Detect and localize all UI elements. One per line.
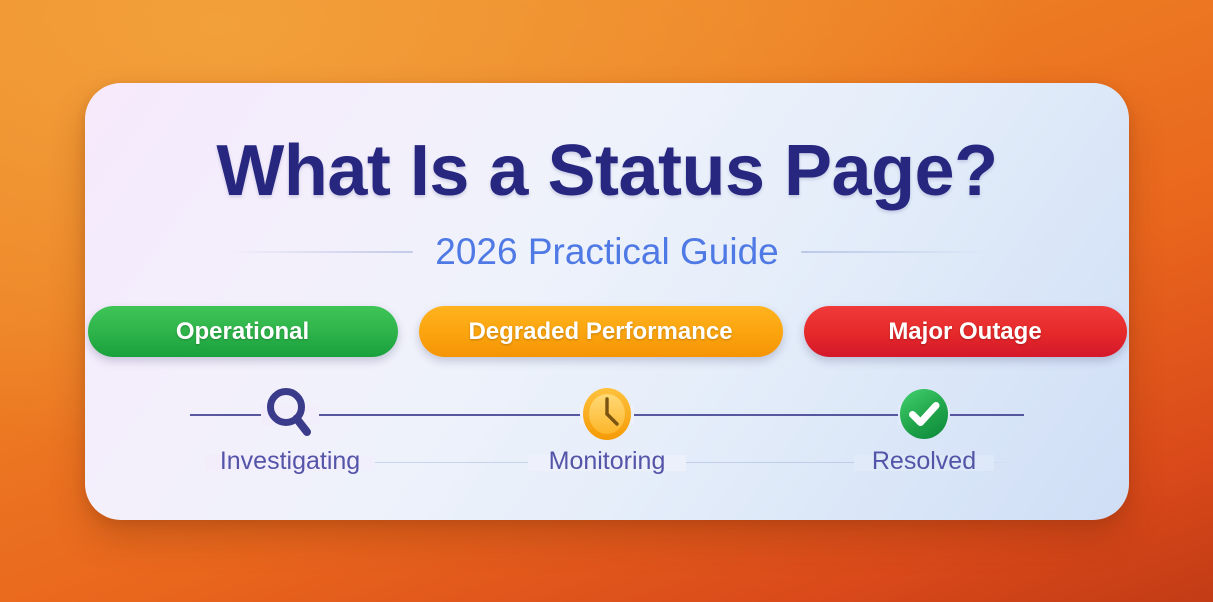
timeline-step-investigating[interactable]: Investigating	[190, 383, 390, 476]
timeline-step-monitoring[interactable]: Monitoring	[507, 383, 707, 476]
clock-icon	[580, 383, 634, 445]
status-badge-group: Operational Degraded Performance Major O…	[85, 306, 1129, 357]
timeline-step-monitoring-label: Monitoring	[539, 447, 676, 476]
status-badge-operational-label: Operational	[176, 318, 309, 346]
poster-canvas: What Is a Status Page? 2026 Practical Gu…	[0, 0, 1213, 602]
subtitle-rule-left	[227, 251, 413, 253]
check-circle-icon	[897, 383, 951, 445]
page-subtitle: 2026 Practical Guide	[435, 231, 778, 273]
subtitle-rule-right	[801, 251, 987, 253]
status-badge-degraded-performance[interactable]: Degraded Performance	[419, 306, 783, 357]
status-badge-major-outage[interactable]: Major Outage	[804, 306, 1127, 357]
subtitle-row: 2026 Practical Guide	[85, 231, 1129, 273]
timeline-step-resolved[interactable]: Resolved	[824, 383, 1024, 476]
status-badge-operational[interactable]: Operational	[88, 306, 398, 357]
status-badge-degraded-performance-label: Degraded Performance	[468, 318, 732, 346]
status-badge-major-outage-label: Major Outage	[888, 318, 1041, 346]
timeline-step-investigating-label: Investigating	[210, 447, 370, 476]
page-title: What Is a Status Page?	[85, 135, 1129, 207]
incident-timeline: Investigating	[190, 383, 1024, 483]
status-page-card: What Is a Status Page? 2026 Practical Gu…	[85, 83, 1129, 520]
timeline-steps: Investigating	[190, 383, 1024, 483]
magnifying-glass-icon	[262, 383, 318, 445]
timeline-step-resolved-label: Resolved	[862, 447, 986, 476]
